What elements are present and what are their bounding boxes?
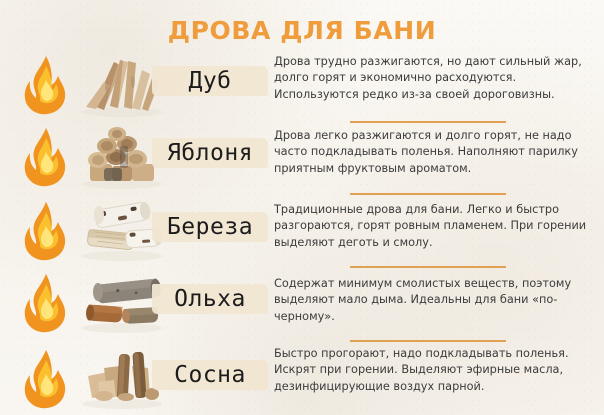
wood-description: Дрова легко разжигаются и долго горят, н… xyxy=(274,128,594,177)
row-divider xyxy=(350,193,506,195)
wood-name: Береза xyxy=(150,206,270,250)
wood-row: Сосна Быстро прогорают, надо подкладыват… xyxy=(0,344,604,415)
wood-name-label: Яблоня xyxy=(150,132,270,176)
wood-name: Ольха xyxy=(150,278,270,322)
row-divider xyxy=(350,340,506,342)
wood-description: Содержат минимум смолистых веществ, поэт… xyxy=(274,276,594,325)
wood-name: Яблоня xyxy=(150,132,270,176)
firewood-infographic: ДРОВА ДЛЯ БАНИ xyxy=(0,0,604,415)
wood-description: Традиционные дрова для бани. Легко и быс… xyxy=(274,202,594,251)
wood-name-label: Дуб xyxy=(150,60,270,104)
flame-icon xyxy=(22,272,70,334)
wood-name-label: Береза xyxy=(150,206,270,250)
flame-icon xyxy=(22,54,70,116)
wood-row: Ольха Содержат минимум смолистых веществ… xyxy=(0,268,604,342)
wood-description: Дрова трудно разжигаются, но дают сильны… xyxy=(274,54,594,103)
wood-name: Сосна xyxy=(150,354,270,398)
page-title: ДРОВА ДЛЯ БАНИ xyxy=(0,16,604,45)
wood-description: Быстро прогорают, надо подкладывать поле… xyxy=(274,346,594,395)
wood-name-label: Ольха xyxy=(150,278,270,322)
wood-row: Дуб Дрова трудно разжигаются, но дают си… xyxy=(0,50,604,124)
wood-name-label: Сосна xyxy=(150,354,270,398)
wood-name: Дуб xyxy=(150,60,270,104)
wood-row: Яблоня Дрова легко разжигаются и долго г… xyxy=(0,122,604,196)
flame-icon xyxy=(22,348,70,410)
flame-icon xyxy=(22,200,70,262)
flame-icon xyxy=(22,126,70,188)
wood-row: Береза Традиционные дрова для бани. Легк… xyxy=(0,196,604,270)
